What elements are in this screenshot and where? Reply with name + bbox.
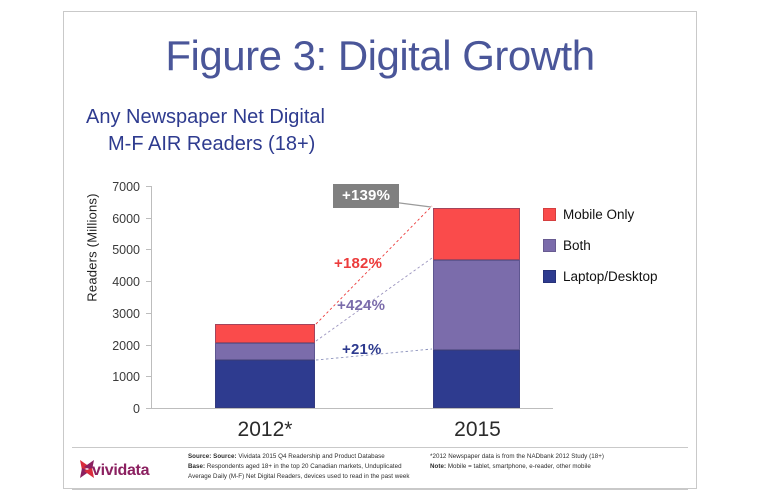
footer-divider-top — [72, 447, 688, 448]
vividata-logo-text: vividata — [92, 462, 149, 480]
footer-note-line2: Note: Mobile = tablet, smartphone, e-rea… — [430, 462, 591, 473]
slide-canvas: Figure 3: Digital Growth Any Newspaper N… — [0, 0, 760, 500]
slide-frame — [63, 11, 697, 489]
chart-subtitle-line2: M-F AIR Readers (18+) — [108, 131, 325, 158]
footer-divider-bottom — [72, 489, 688, 490]
page-title: Figure 3: Digital Growth — [63, 34, 697, 78]
footer-base-line2: Average Daily (M-F) Net Digital Readers,… — [188, 472, 409, 483]
chart-subtitle: Any Newspaper Net Digital M-F AIR Reader… — [86, 104, 325, 158]
chart-subtitle-line1: Any Newspaper Net Digital — [86, 106, 325, 128]
